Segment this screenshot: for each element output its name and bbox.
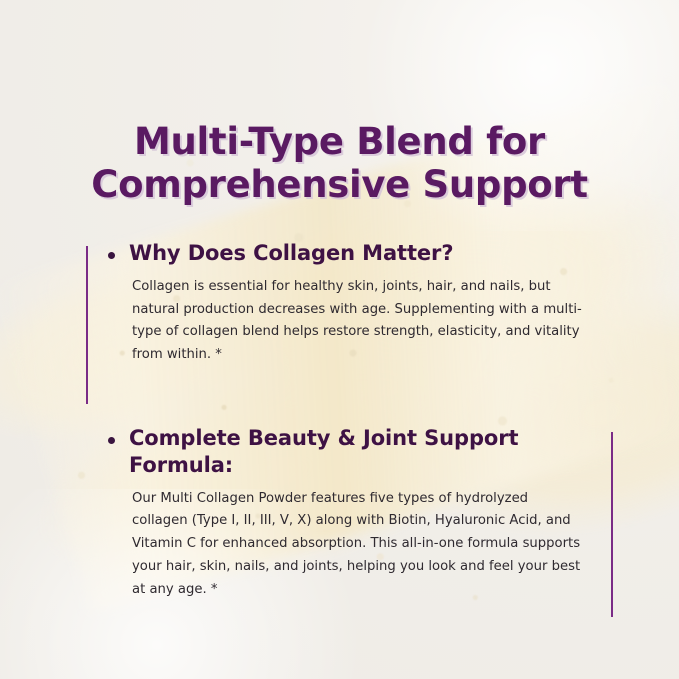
feature-body-2: Our Multi Collagen Powder features five …: [132, 488, 582, 602]
bullet-heading-1: Why Does Collagen Matter?: [86, 240, 604, 267]
right-accent-rule: [611, 432, 613, 617]
page-title: Multi-Type Blend for Comprehensive Suppo…: [0, 121, 679, 207]
feature-section-1: Why Does Collagen Matter? Collagen is es…: [86, 240, 604, 367]
feature-title-2: Complete Beauty & Joint Support Formula:: [129, 425, 604, 479]
content-layer: Multi-Type Blend for Comprehensive Suppo…: [0, 0, 679, 679]
promotional-graphic: Multi-Type Blend for Comprehensive Suppo…: [0, 0, 679, 679]
left-accent-rule-1: [86, 246, 88, 404]
feature-title-1: Why Does Collagen Matter?: [129, 240, 453, 267]
page-title-line-1: Multi-Type Blend for: [30, 121, 649, 164]
bullet-dot-icon: [108, 437, 115, 444]
bullet-dot-icon: [108, 252, 115, 259]
feature-section-2: Complete Beauty & Joint Support Formula:…: [86, 425, 604, 601]
feature-body-1: Collagen is essential for healthy skin, …: [132, 276, 582, 367]
bullet-heading-2: Complete Beauty & Joint Support Formula:: [86, 425, 604, 479]
page-title-line-2: Comprehensive Support: [30, 164, 649, 207]
